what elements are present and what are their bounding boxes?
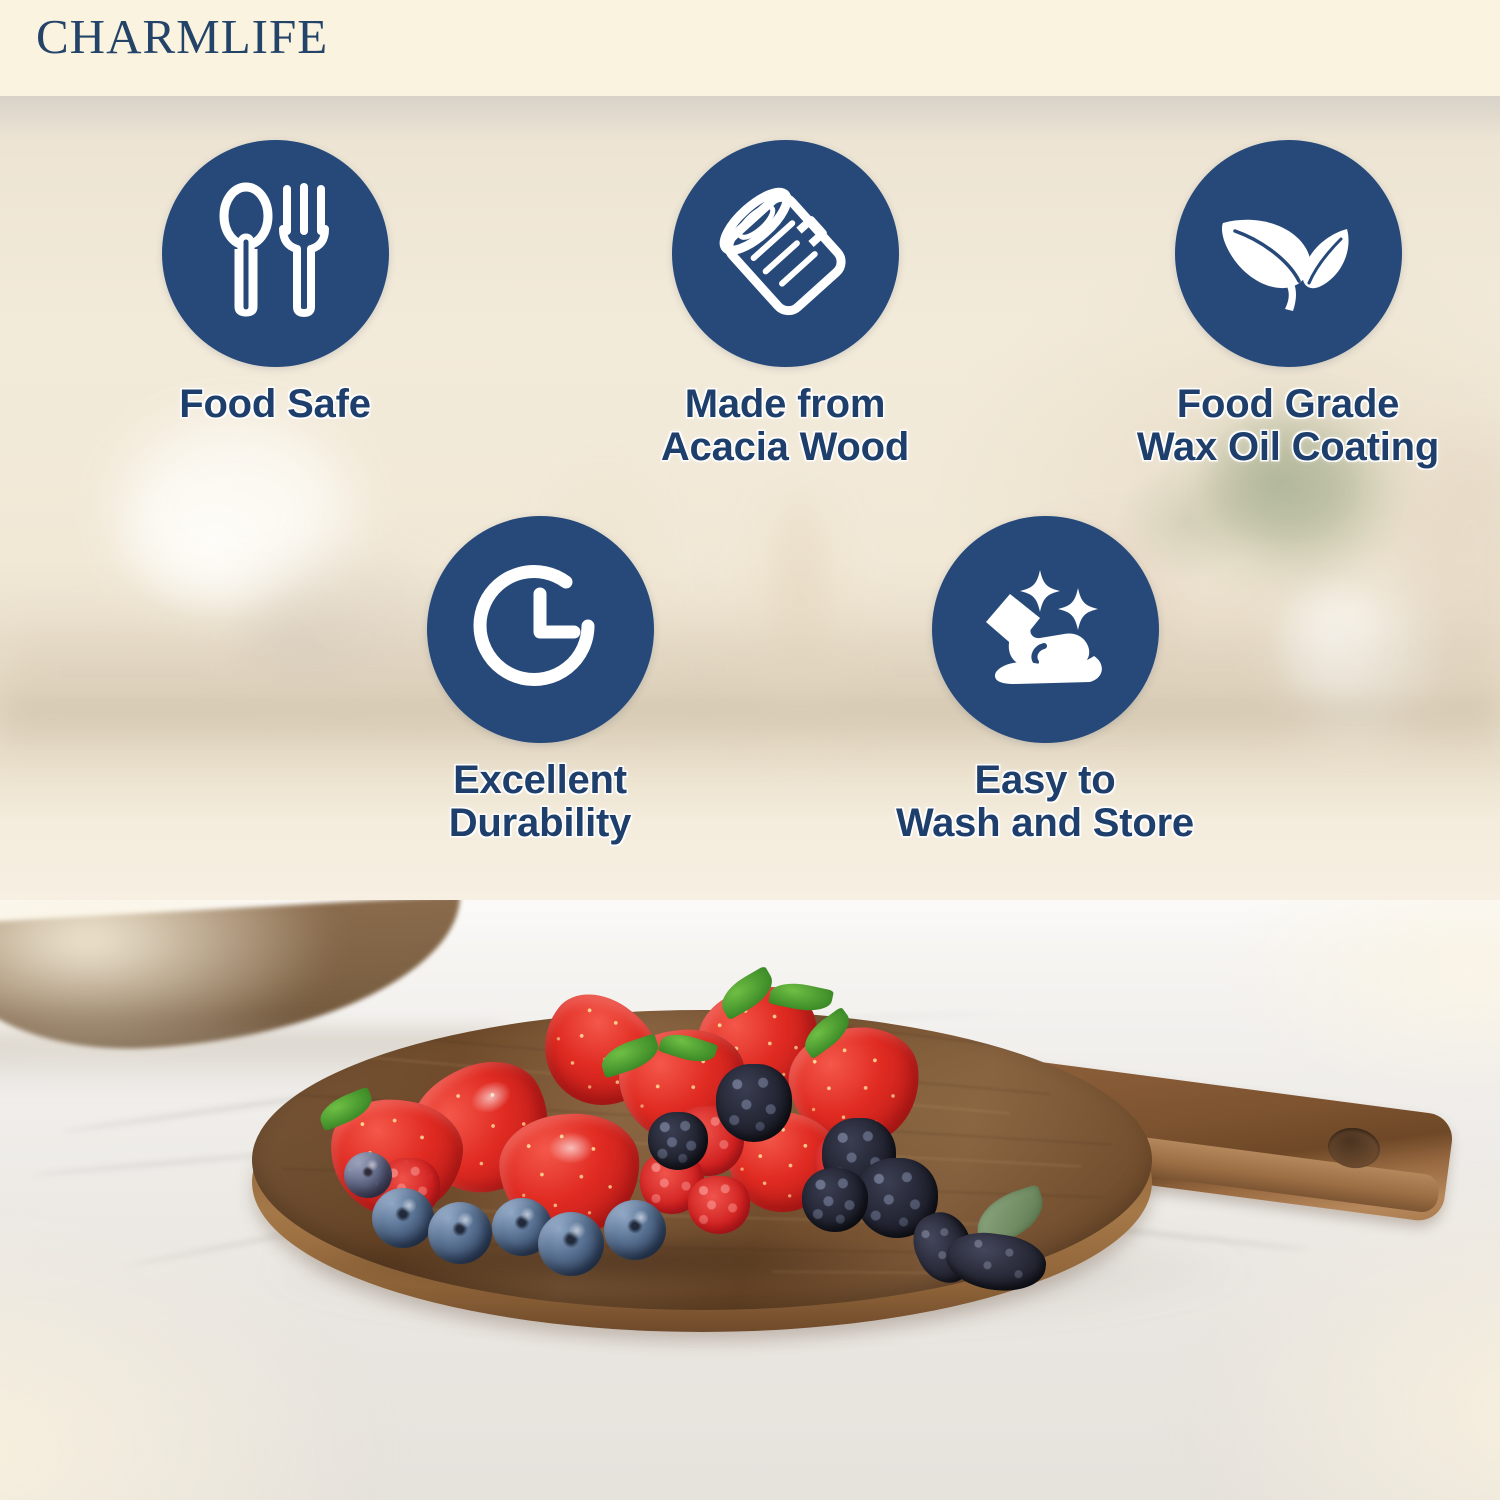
feature-label: Easy to Wash and Store	[875, 759, 1215, 845]
leaf-icon	[1213, 189, 1363, 319]
clock-icon	[470, 560, 610, 700]
product-photo	[0, 900, 1500, 1500]
spoon-fork-icon	[215, 179, 335, 329]
feature-label: Food Safe	[115, 383, 435, 426]
photo-corner-wash-top-right	[1230, 900, 1500, 1100]
feature-label: Excellent Durability	[370, 759, 710, 845]
header-band: CHARMLIFE	[0, 0, 1500, 96]
brand-logo: CHARMLIFE	[36, 8, 328, 65]
feature-icon-circle	[1175, 140, 1402, 367]
feature-durability[interactable]: Excellent Durability	[370, 516, 710, 845]
feature-easy-wash[interactable]: Easy to Wash and Store	[875, 516, 1215, 845]
feature-food-safe[interactable]: Food Safe	[115, 140, 435, 426]
feature-label: Food Grade Wax Oil Coating	[1118, 383, 1458, 469]
hand-wash-sparkle-icon	[970, 560, 1120, 700]
feature-label: Made from Acacia Wood	[625, 383, 945, 469]
infographic-stage: Food Safe	[0, 0, 1500, 1500]
feature-badges: Food Safe	[0, 0, 1500, 900]
feature-icon-circle	[932, 516, 1159, 743]
photo-corner-wash-top-left	[0, 900, 340, 1060]
feature-icon-circle	[162, 140, 389, 367]
feature-icon-circle	[427, 516, 654, 743]
wood-log-icon	[715, 184, 855, 324]
feature-icon-circle	[672, 140, 899, 367]
feature-acacia-wood[interactable]: Made from Acacia Wood	[625, 140, 945, 469]
feature-wax-oil-coating[interactable]: Food Grade Wax Oil Coating	[1118, 140, 1458, 469]
